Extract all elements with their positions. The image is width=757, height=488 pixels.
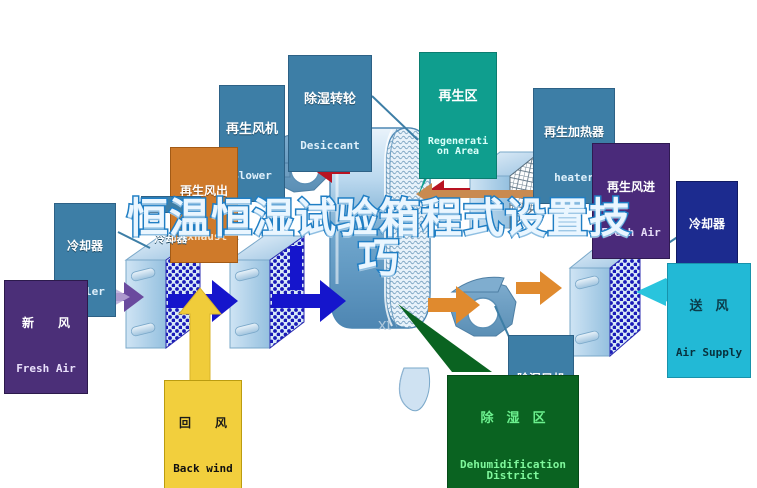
label-back-wind-cn: 回 风 — [168, 417, 238, 430]
label-back-wind: 回 风 Back wind — [164, 380, 242, 488]
label-regen-fresh-air-cn: 再生风进 — [595, 181, 667, 194]
label-desiccant-wheel-en: Desiccant — [291, 140, 369, 152]
overlay-title: 恒温恒湿试验箱程式设置技 巧 — [96, 198, 662, 278]
label-fresh-air: 新 风 Fresh Air — [4, 280, 88, 394]
label-regen-area-en: Regenerati on Area — [422, 137, 494, 158]
label-regen-area-cn: 再生区 — [422, 90, 494, 104]
label-cooler-right-cn: 冷却器 — [679, 218, 735, 231]
watermark: xt — [378, 315, 392, 334]
label-dehum-district-cn: 除 湿 区 — [450, 412, 576, 426]
label-regen-blower-cn: 再生风机 — [222, 123, 282, 137]
label-dehum-district-en: Dehumidification District — [450, 459, 576, 482]
label-air-supply-cn: 送 风 — [670, 300, 748, 314]
label-regen-area: 再生区 Regenerati on Area — [419, 52, 497, 179]
label-fresh-air-en: Fresh Air — [8, 363, 84, 375]
label-air-supply: 送 风 Air Supply — [667, 263, 751, 378]
label-dehum-district: 除 湿 区 Dehumidification District — [447, 375, 579, 488]
overlay-title-line2: 巧 — [96, 238, 662, 278]
label-desiccant-wheel-cn: 除湿转轮 — [291, 93, 369, 107]
label-air-supply-en: Air Supply — [670, 347, 748, 359]
label-regen-heater-cn: 再生加热器 — [536, 126, 612, 139]
rotor-belt — [399, 368, 429, 411]
label-back-wind-en: Back wind — [168, 463, 238, 475]
diagram-canvas: xt 除湿转轮 Desiccant 再生风机 Blower 再生区 Regene… — [0, 0, 757, 488]
label-desiccant-wheel: 除湿转轮 Desiccant — [288, 55, 372, 172]
label-fresh-air-cn: 新 风 — [8, 317, 84, 330]
